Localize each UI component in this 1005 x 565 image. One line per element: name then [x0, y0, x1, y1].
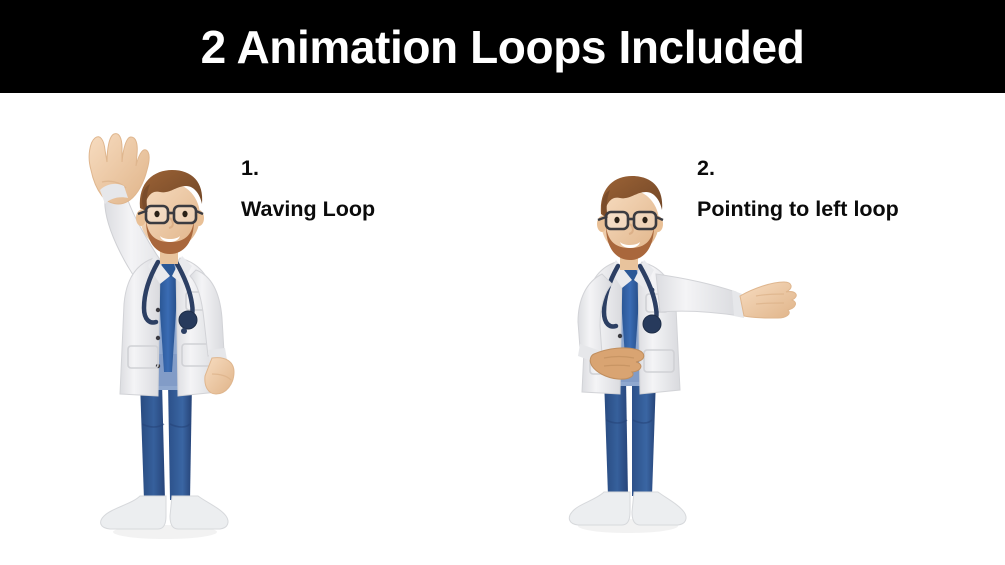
pant-leg-left [140, 382, 165, 500]
stethoscope-stem [181, 328, 187, 334]
stethoscope-chestpiece [179, 311, 197, 329]
shoe-left [101, 496, 166, 529]
pant-leg-left [604, 378, 628, 496]
coat-button [156, 336, 160, 340]
header-bar: 2 Animation Loops Included [0, 0, 1005, 93]
coat-extended-sleeve [656, 274, 740, 316]
item-number-1: 1. [241, 148, 375, 189]
pant-leg-right [632, 378, 656, 496]
shoe-right [632, 492, 686, 525]
item-name-2: Pointing to left loop [697, 189, 899, 230]
page-title: 2 Animation Loops Included [201, 24, 805, 70]
eye-left [614, 217, 619, 223]
slide-canvas: 2 Animation Loops Included [0, 0, 1005, 565]
stethoscope-chestpiece [643, 315, 661, 333]
eye-left [154, 211, 159, 217]
item-label-1: 1. Waving Loop [241, 148, 375, 230]
presenting-hand [740, 282, 796, 318]
item-name-1: Waving Loop [241, 189, 375, 230]
item-label-2: 2. Pointing to left loop [697, 148, 899, 230]
character-illustration-waving [62, 124, 262, 544]
eye-right [642, 217, 647, 223]
coat-button [156, 308, 160, 312]
shoe-right [170, 496, 228, 529]
coat-left-panel [120, 258, 160, 396]
coat-button [618, 334, 622, 338]
pant-leg-right [168, 382, 192, 500]
eye-right [182, 211, 187, 217]
shoe-left [569, 492, 630, 525]
item-number-2: 2. [697, 148, 899, 189]
